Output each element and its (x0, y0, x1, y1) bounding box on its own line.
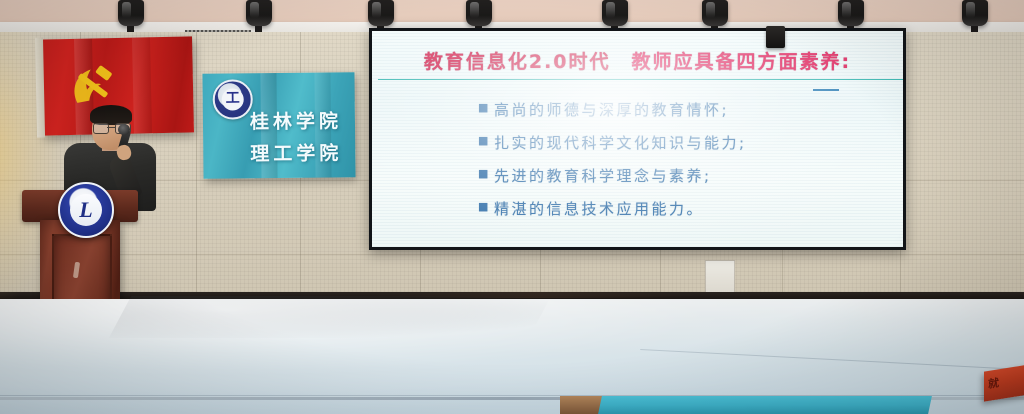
banner-emblem-glyph: 工 (222, 88, 244, 110)
ceiling-spotlight (118, 0, 144, 26)
slide-title-part-2: 教师应具备四方面素养: (632, 51, 852, 73)
slide-bullet-item: ■高尚的师德与深厚的教育情怀; (478, 99, 887, 120)
wall-access-panel (705, 260, 735, 295)
ceiling-spotlight (368, 0, 394, 26)
foreground-chair-back (598, 396, 932, 414)
slide-bullet-text: 高尚的师德与深厚的教育情怀; (494, 99, 729, 120)
slide-bullet-item: ■扎实的现代科学文化知识与能力; (478, 132, 887, 153)
projector-mount (766, 26, 785, 48)
ceiling-spotlight (838, 0, 864, 26)
slide-title-dash (813, 89, 839, 91)
banner-line-2: 理工学院 (243, 138, 349, 166)
floor-scuff-mark (370, 292, 700, 298)
banner-line-1: 桂林学院 (243, 106, 349, 134)
slide-bullet-text: 先进的教育科学理念与素养; (494, 165, 712, 186)
slide-title-rule (378, 79, 903, 80)
slide-bullet-item: ■先进的教育科学理念与素养; (478, 165, 887, 186)
slide-bullet-text: 精湛的信息技术应用能力。 (494, 198, 704, 219)
slide-bullet-item: ■精湛的信息技术应用能力。 (478, 198, 887, 219)
microphone-head-icon (118, 124, 130, 135)
ceiling-spotlight (962, 0, 988, 26)
slide-title: 教育信息化2.0时代 教师应具备四方面素养: (372, 47, 903, 74)
ceiling-spotlight (246, 0, 272, 26)
flag-hoist-edge (35, 38, 45, 138)
lecture-hall-photo: 工 桂林学院 理工学院 教育信息化2.0时代 教师应具备四方面素养: ■高尚的师… (0, 0, 1024, 414)
slide-bullet-text: 扎实的现代科学文化知识与能力; (494, 132, 747, 153)
slide-bullet-list: ■高尚的师德与深厚的教育情怀;■扎实的现代科学文化知识与能力;■先进的教育科学理… (478, 99, 887, 231)
slide-title-part-1: 教育信息化2.0时代 (424, 51, 611, 73)
name-placard: 就 (984, 364, 1024, 401)
hammer-sickle-icon (67, 62, 124, 109)
slide-title-gap (611, 51, 632, 73)
projection-screen: 教育信息化2.0时代 教师应具备四方面素养: ■高尚的师德与深厚的教育情怀;■扎… (372, 31, 903, 247)
podium-emblem-icon: L (58, 182, 114, 238)
projection-screen-frame: 教育信息化2.0时代 教师应具备四方面素养: ■高尚的师德与深厚的教育情怀;■扎… (369, 28, 906, 250)
name-placard-text: 就 (988, 374, 1001, 392)
bullet-marker-icon: ■ (478, 99, 494, 117)
ceiling-spotlight (466, 0, 492, 26)
ceiling-spotlight (602, 0, 628, 26)
bullet-marker-icon: ■ (478, 165, 494, 183)
department-banner: 工 桂林学院 理工学院 (202, 72, 355, 179)
speaker-hair (90, 105, 132, 125)
bullet-marker-icon: ■ (478, 132, 494, 150)
podium-emblem-glyph: L (70, 194, 102, 226)
ceiling-spotlight (702, 0, 728, 26)
bullet-marker-icon: ■ (478, 198, 494, 216)
